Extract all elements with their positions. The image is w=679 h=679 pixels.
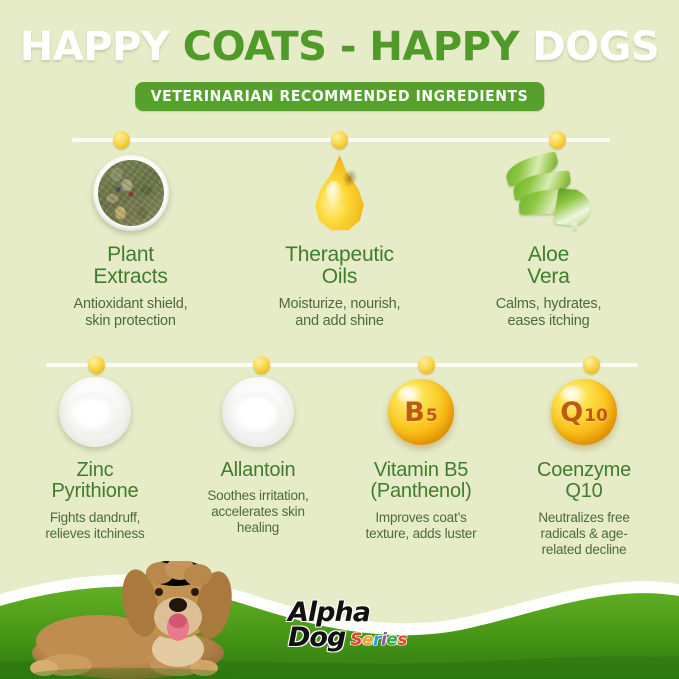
card-title: Zinc Pyrithione xyxy=(52,460,139,503)
capsule-main-label: Q xyxy=(560,399,583,426)
ingredient-card-therapeutic-oils: Therapeutic Oils Moisturize, nourish, an… xyxy=(235,150,444,330)
status-badge: VETERINARIAN RECOMMENDED INGREDIENTS xyxy=(135,82,545,111)
logo-series-word: Series xyxy=(350,633,407,651)
vitamin-capsule-icon: B5 xyxy=(388,372,454,452)
card-title: Vitamin B5 (Panthenol) xyxy=(370,460,471,503)
card-title: Therapeutic Oils xyxy=(285,244,394,289)
dog-photo xyxy=(28,561,266,679)
card-title: Plant Extracts xyxy=(93,244,167,289)
card-description: Antioxidant shield, skin protection xyxy=(74,296,188,330)
headline-part-1: HAPPY xyxy=(20,24,183,70)
white-powder-mound-icon xyxy=(222,372,294,452)
divider-row-2 xyxy=(46,363,638,367)
logo-line-dog: Dog xyxy=(288,626,345,651)
card-title: Aloe Vera xyxy=(527,244,569,289)
capsule-sub-label: 10 xyxy=(584,408,608,425)
ingredient-card-coenzyme-q10: Q10 Coenzyme Q10 Neutralizes free radica… xyxy=(503,372,666,558)
coenzyme-capsule-icon: Q10 xyxy=(551,372,617,452)
card-description: Soothes irritation, accelerates skin hea… xyxy=(207,488,308,536)
oil-drop-icon xyxy=(313,150,367,236)
card-description: Fights dandruff, relieves itchiness xyxy=(45,510,144,542)
aloe-leaf-icon xyxy=(501,150,597,236)
headline-part-2: COATS - HAPPY xyxy=(183,24,519,70)
capsule-main-label: B xyxy=(404,399,425,426)
divider-dot xyxy=(113,131,130,149)
ingredient-card-allantoin: Allantoin Soothes irritation, accelerate… xyxy=(177,372,340,536)
card-title: Coenzyme Q10 xyxy=(537,460,631,503)
white-powder-bowl-icon xyxy=(59,372,131,452)
ingredient-card-vitamin-b5: B5 Vitamin B5 (Panthenol) Improves coat’… xyxy=(340,372,503,542)
infographic-poster: HAPPY COATS - HAPPY DOGS VETERINARIAN RE… xyxy=(0,0,679,679)
divider-dot xyxy=(331,131,348,149)
card-description: Improves coat’s texture, adds luster xyxy=(366,510,477,542)
herb-bowl-icon xyxy=(93,150,169,236)
ingredient-row-2: Zinc Pyrithione Fights dandruff, relieve… xyxy=(0,372,679,558)
ingredient-card-aloe-vera: Aloe Vera Calms, hydrates, eases itching xyxy=(444,150,653,330)
ingredient-card-plant-extracts: Plant Extracts Antioxidant shield, skin … xyxy=(26,150,235,330)
divider-dot xyxy=(549,131,566,149)
ingredient-card-zinc-pyrithione: Zinc Pyrithione Fights dandruff, relieve… xyxy=(14,372,177,542)
headline-part-3: DOGS xyxy=(519,24,659,70)
card-title: Allantoin xyxy=(221,460,296,481)
ingredient-row-1: Plant Extracts Antioxidant shield, skin … xyxy=(0,150,679,330)
capsule-sub-label: 5 xyxy=(426,408,438,425)
page-title: HAPPY COATS - HAPPY DOGS xyxy=(0,24,679,70)
brand-logo: Alpha Dog Series xyxy=(288,601,420,651)
card-description: Calms, hydrates, eases itching xyxy=(496,296,602,330)
card-description: Moisturize, nourish, and add shine xyxy=(279,296,401,330)
card-description: Neutralizes free radicals & age- related… xyxy=(538,510,629,558)
